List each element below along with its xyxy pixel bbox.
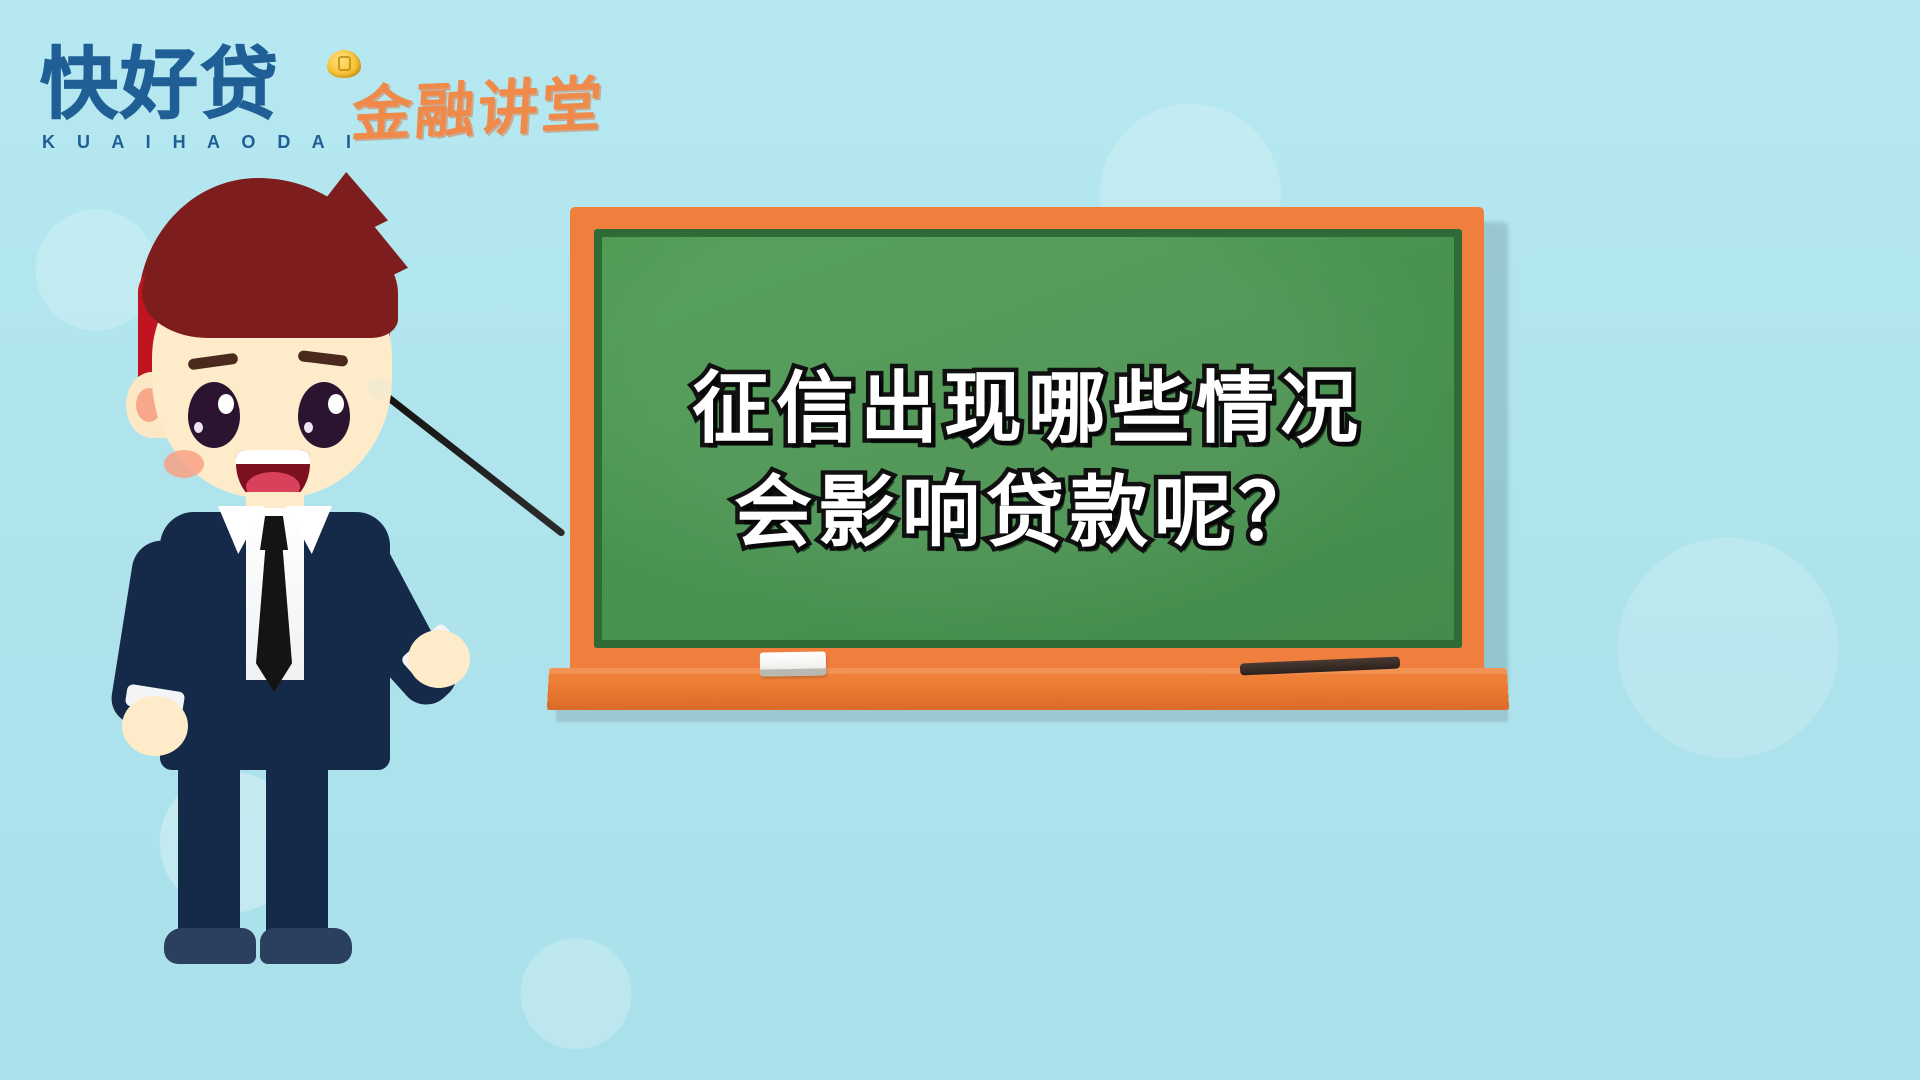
blackboard-eraser[interactable]	[760, 651, 826, 676]
eraser-felt	[760, 668, 826, 676]
shoe-left	[164, 928, 256, 964]
leg-right	[266, 748, 328, 948]
blackboard-inner-edge: 征信出现哪些情况 会影响贷款呢？	[594, 229, 1462, 648]
leg-left	[178, 748, 240, 948]
brand-name-latin: K U A I H A O D A I	[42, 132, 360, 153]
eye-glint-left	[194, 422, 203, 433]
hair-front	[142, 226, 398, 338]
blackboard-line-1: 征信出现哪些情况	[602, 357, 1454, 461]
blackboard-surface: 征信出现哪些情况 会影响贷款呢？	[602, 237, 1454, 640]
brand-logo[interactable]: 快好贷 K U A I H A O D A I 金融讲堂	[22, 28, 642, 153]
cheek-blush	[164, 450, 204, 478]
blackboard-text: 征信出现哪些情况 会影响贷款呢？	[602, 357, 1454, 565]
eye-highlight-left	[218, 394, 234, 414]
brand-name-cn: 快好贷	[40, 46, 280, 124]
chalk-ledge	[547, 668, 1509, 710]
eye-highlight-right	[328, 394, 344, 414]
blackboard: 征信出现哪些情况 会影响贷款呢？	[570, 207, 1484, 669]
mascot-character	[60, 160, 560, 820]
eye-right	[298, 382, 350, 448]
blackboard-line-2: 会影响贷款呢？	[602, 461, 1454, 565]
eye-glint-right	[304, 422, 313, 433]
shoe-right	[260, 928, 352, 964]
pointer-tip	[368, 378, 390, 400]
pointer-stick	[376, 387, 566, 538]
teeth	[236, 450, 310, 464]
hand-right	[408, 630, 470, 688]
gold-coin-icon	[327, 50, 361, 78]
eye-left	[188, 382, 240, 448]
brand-tagline: 金融讲堂	[350, 75, 607, 146]
slide-canvas: 快好贷 K U A I H A O D A I 金融讲堂 征信出现哪些情况 会影…	[0, 0, 1920, 1080]
hand-left	[122, 696, 188, 756]
